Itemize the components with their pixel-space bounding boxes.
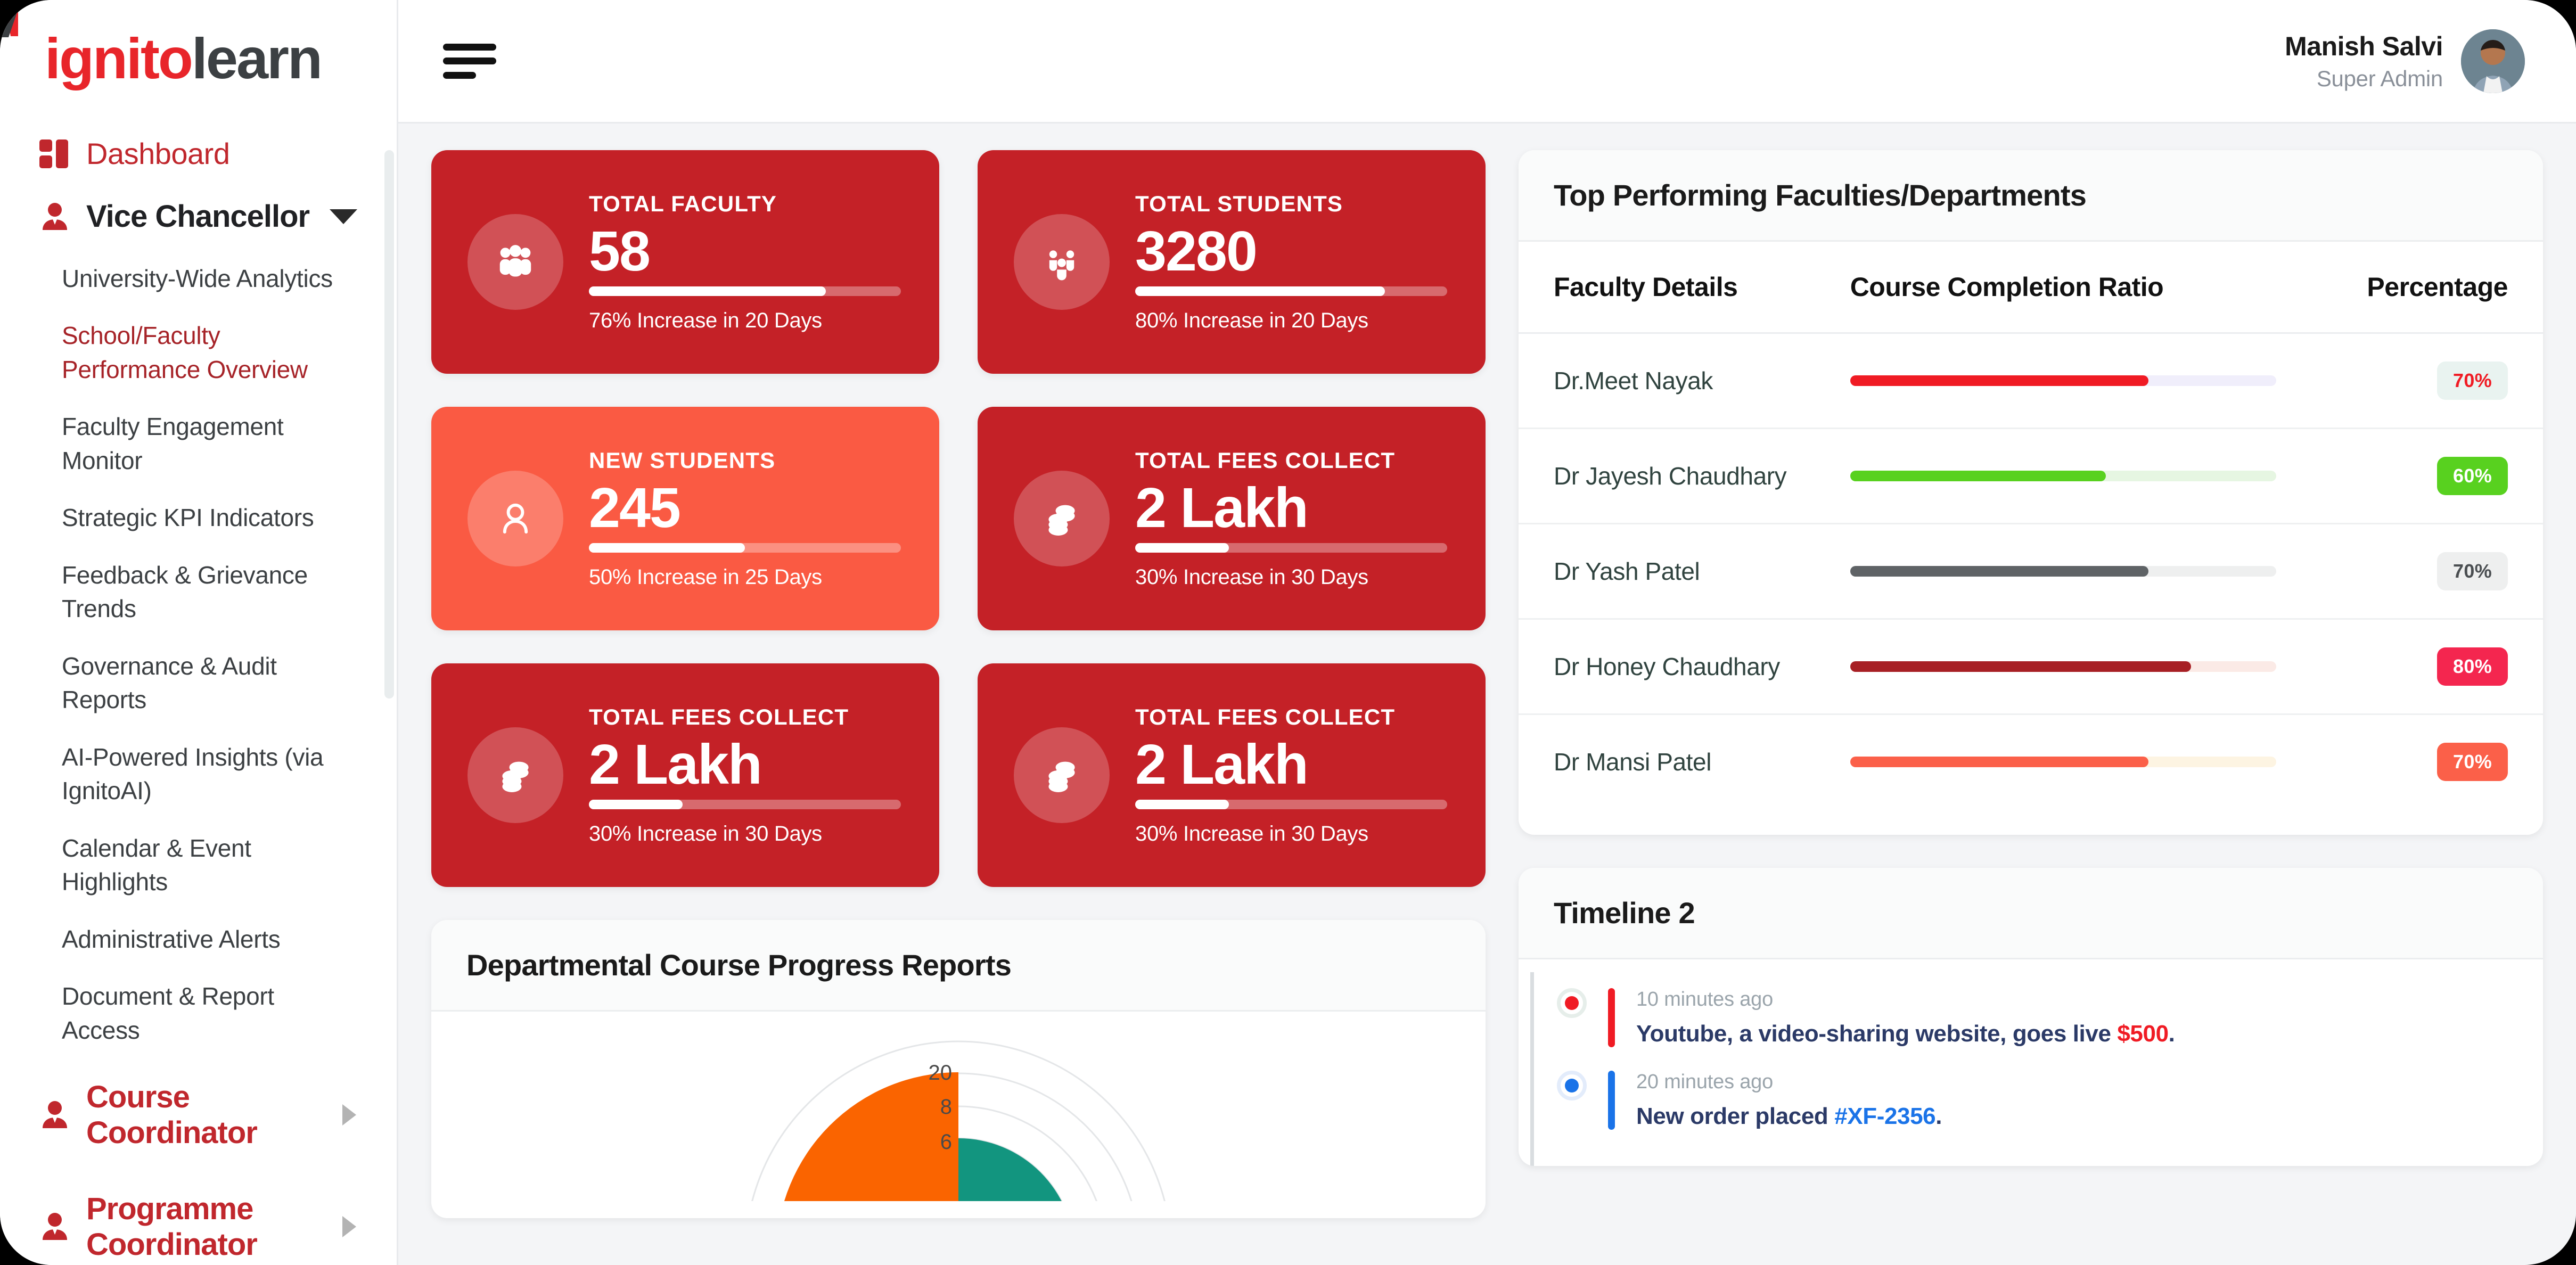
stat-label: NEW STUDENTS — [589, 448, 901, 473]
status-badge: 80% — [2437, 647, 2508, 686]
stat-progress-bar — [1135, 800, 1447, 809]
sidebar-subnav-vice-chancellor: University-Wide Analytics School/Faculty… — [0, 250, 397, 1059]
sidebar-scrollbar[interactable] — [384, 134, 394, 1146]
chevron-down-icon[interactable] — [330, 209, 357, 224]
sidebar-group-vice-chancellor[interactable]: Vice Chancellor — [0, 183, 397, 250]
status-badge: 70% — [2437, 552, 2508, 590]
stat-value: 3280 — [1135, 220, 1447, 283]
sidebar-group-label: Course Coordinator — [86, 1079, 326, 1151]
stat-subtext: 30% Increase in 30 Days — [589, 822, 901, 846]
panel-title: Departmental Course Progress Reports — [466, 948, 1450, 982]
stat-card-total-fees-collect-2[interactable]: TOTAL FEES COLLECT 2 Lakh 30% Increase i… — [431, 663, 939, 887]
panel-title: Top Performing Faculties/Departments — [1554, 178, 2508, 212]
brand-name-secondary: learn — [192, 30, 321, 87]
table-row[interactable]: Dr Jayesh Chaudhary 60% — [1519, 429, 2543, 524]
completion-ratio-bar — [1850, 757, 2276, 767]
sidebar-dashboard-label: Dashboard — [86, 136, 229, 171]
stat-progress-bar — [1135, 543, 1447, 553]
chevron-right-icon[interactable] — [342, 1216, 356, 1237]
table-row[interactable]: Dr Mansi Patel 70% — [1519, 714, 2543, 809]
brand-logo[interactable]: ignitolearn — [0, 0, 397, 125]
timeline-panel: Timeline 2 10 minutes ago Youtube, a vid… — [1519, 868, 2543, 1166]
person-icon — [39, 1211, 70, 1242]
table-row[interactable]: Dr Honey Chaudhary 80% — [1519, 619, 2543, 714]
sidebar-group-programme-coordinator[interactable]: Programme Coordinator — [0, 1171, 397, 1265]
brand-name-primary: ignito — [45, 30, 192, 87]
stat-label: TOTAL FEES COLLECT — [1135, 704, 1447, 730]
grid-icon — [39, 139, 68, 168]
faculty-table: Faculty Details Course Completion Ratio … — [1519, 242, 2543, 809]
person-icon — [39, 201, 70, 232]
stat-card-new-students[interactable]: NEW STUDENTS 245 50% Increase in 25 Days — [431, 407, 939, 630]
avatar-image — [2461, 29, 2525, 93]
chevron-right-icon[interactable] — [342, 1104, 356, 1126]
ignito-flame-icon — [0, 0, 26, 42]
sidebar-group-label: Programme Coordinator — [86, 1191, 326, 1262]
sidebar-item-dashboard[interactable]: Dashboard — [0, 125, 397, 183]
sidebar-item-administrative-alerts[interactable]: Administrative Alerts — [0, 911, 397, 968]
status-badge: 60% — [2437, 457, 2508, 495]
sidebar-item-university-wide-analytics[interactable]: University-Wide Analytics — [0, 250, 397, 307]
sidebar-item-school-faculty-performance-overview[interactable]: School/Faculty Performance Overview — [0, 307, 397, 398]
students-group-icon — [1014, 214, 1110, 310]
faculty-name: Dr Honey Chaudhary — [1554, 652, 1808, 681]
panel-header: Departmental Course Progress Reports — [431, 920, 1486, 1012]
top-header: Manish Salvi Super Admin — [398, 0, 2576, 124]
faculty-name: Dr Jayesh Chaudhary — [1554, 462, 1808, 490]
radial-tick-20: 20 — [929, 1061, 953, 1085]
timeline-item[interactable]: 20 minutes ago New order placed #XF-2356… — [1557, 1071, 2543, 1153]
coins-stack-icon — [467, 727, 563, 823]
top-performing-faculties-panel: Top Performing Faculties/Departments Fac… — [1519, 150, 2543, 835]
status-badge: 70% — [2437, 743, 2508, 781]
stat-label: TOTAL FEES COLLECT — [1135, 448, 1447, 473]
user-role: Super Admin — [2285, 66, 2443, 92]
user-profile[interactable]: Manish Salvi Super Admin — [2285, 29, 2525, 93]
panel-header: Timeline 2 — [1519, 868, 2543, 959]
sidebar-item-ai-powered-insights[interactable]: AI-Powered Insights (via IgnitoAI) — [0, 729, 397, 820]
single-user-icon — [467, 471, 563, 566]
sidebar-item-strategic-kpi-indicators[interactable]: Strategic KPI Indicators — [0, 489, 397, 546]
stat-card-total-fees-collect-1[interactable]: TOTAL FEES COLLECT 2 Lakh 30% Increase i… — [978, 407, 1486, 630]
completion-ratio-bar — [1850, 375, 2276, 386]
sidebar-item-document-report-access[interactable]: Document & Report Access — [0, 968, 397, 1059]
timeline-highlight[interactable]: #XF-2356 — [1834, 1103, 1935, 1129]
stat-value: 58 — [589, 220, 901, 283]
person-icon — [39, 1099, 70, 1130]
faculty-name: Dr Yash Patel — [1554, 557, 1808, 586]
coins-stack-icon — [1014, 471, 1110, 566]
polar-chart-svg: 20 8 6 — [729, 1025, 1187, 1201]
main-content: TOTAL FACULTY 58 76% Increase in 20 Days — [398, 124, 2576, 1265]
table-header-row: Faculty Details Course Completion Ratio … — [1519, 242, 2543, 333]
timeline-dot-icon — [1557, 988, 1587, 1018]
timeline-accent-bar — [1608, 988, 1615, 1047]
sidebar-item-calendar-event-highlights[interactable]: Calendar & Event Highlights — [0, 820, 397, 911]
table-row[interactable]: Dr Yash Patel 70% — [1519, 524, 2543, 619]
panel-header: Top Performing Faculties/Departments — [1519, 150, 2543, 242]
panel-title: Timeline 2 — [1554, 896, 2508, 930]
sidebar-group-course-coordinator[interactable]: Course Coordinator — [0, 1059, 397, 1171]
stat-subtext: 30% Increase in 30 Days — [1135, 822, 1447, 846]
timeline-dot-icon — [1557, 1071, 1587, 1100]
timeline-item[interactable]: 10 minutes ago Youtube, a video-sharing … — [1557, 988, 2543, 1071]
stat-card-total-students[interactable]: TOTAL STUDENTS 3280 80% Increase in 20 D… — [978, 150, 1486, 374]
sidebar-item-governance-audit-reports[interactable]: Governance & Audit Reports — [0, 638, 397, 729]
stat-value: 2 Lakh — [1135, 477, 1447, 540]
timeline-rail — [1530, 972, 1534, 1166]
status-badge: 70% — [2437, 362, 2508, 400]
hamburger-icon[interactable] — [443, 44, 496, 79]
stat-label: TOTAL FEES COLLECT — [589, 704, 901, 730]
stat-card-total-fees-collect-3[interactable]: TOTAL FEES COLLECT 2 Lakh 30% Increase i… — [978, 663, 1486, 887]
stat-subtext: 50% Increase in 25 Days — [589, 565, 901, 589]
timeline-text-after: . — [2169, 1021, 2175, 1047]
radial-tick-8: 8 — [940, 1095, 952, 1119]
timeline-text-before: Youtube, a video-sharing website, goes l… — [1636, 1021, 2117, 1047]
completion-ratio-bar — [1850, 471, 2276, 481]
stat-value: 2 Lakh — [589, 733, 901, 796]
stat-subtext: 80% Increase in 20 Days — [1135, 309, 1447, 333]
stat-value: 2 Lakh — [1135, 733, 1447, 796]
stat-progress-bar — [589, 543, 901, 553]
column-course-completion-ratio: Course Completion Ratio — [1829, 242, 2332, 333]
timeline-message: New order placed #XF-2356. — [1636, 1103, 1942, 1130]
stat-subtext: 76% Increase in 20 Days — [589, 309, 901, 333]
faculty-name: Dr.Meet Nayak — [1554, 366, 1808, 395]
sidebar: ignitolearn Dashboard Vice Chancellor Un… — [0, 0, 398, 1265]
timeline-timestamp: 10 minutes ago — [1636, 988, 2175, 1011]
stat-progress-bar — [589, 286, 901, 296]
left-column: TOTAL FACULTY 58 76% Increase in 20 Days — [431, 150, 1486, 1265]
timeline-timestamp: 20 minutes ago — [1636, 1071, 1942, 1094]
column-faculty-details: Faculty Details — [1519, 242, 1829, 333]
timeline-list: 10 minutes ago Youtube, a video-sharing … — [1519, 959, 2543, 1153]
users-group-icon — [467, 214, 563, 310]
right-column: Top Performing Faculties/Departments Fac… — [1519, 150, 2543, 1265]
stat-subtext: 30% Increase in 30 Days — [1135, 565, 1447, 589]
dashboard-app: ignitolearn Dashboard Vice Chancellor Un… — [0, 0, 2576, 1265]
column-percentage: Percentage — [2332, 242, 2544, 333]
stat-label: TOTAL FACULTY — [589, 191, 901, 217]
sidebar-scrollbar-thumb[interactable] — [384, 150, 394, 699]
timeline-accent-bar — [1608, 1071, 1615, 1130]
stat-cards-grid: TOTAL FACULTY 58 76% Increase in 20 Days — [431, 150, 1486, 887]
polar-area-chart[interactable]: 20 8 6 — [431, 1012, 1486, 1201]
coins-stack-icon — [1014, 727, 1110, 823]
user-name: Manish Salvi — [2285, 31, 2443, 62]
table-row[interactable]: Dr.Meet Nayak 70% — [1519, 333, 2543, 429]
faculty-name: Dr Mansi Patel — [1554, 747, 1808, 776]
radial-tick-6: 6 — [940, 1130, 952, 1154]
stat-card-total-faculty[interactable]: TOTAL FACULTY 58 76% Increase in 20 Days — [431, 150, 939, 374]
sidebar-group-label: Vice Chancellor — [86, 199, 314, 234]
stat-value: 245 — [589, 477, 901, 540]
completion-ratio-bar — [1850, 661, 2276, 672]
sidebar-item-faculty-engagement-monitor[interactable]: Faculty Engagement Monitor — [0, 398, 397, 489]
stat-progress-bar — [589, 800, 901, 809]
timeline-message: Youtube, a video-sharing website, goes l… — [1636, 1021, 2175, 1047]
timeline-text-before: New order placed — [1636, 1103, 1834, 1129]
avatar[interactable] — [2461, 29, 2525, 93]
stat-progress-bar — [1135, 286, 1447, 296]
departmental-course-progress-panel: Departmental Course Progress Reports — [431, 920, 1486, 1218]
completion-ratio-bar — [1850, 566, 2276, 577]
timeline-highlight[interactable]: $500 — [2117, 1021, 2168, 1047]
sidebar-nav: Dashboard Vice Chancellor University-Wid… — [0, 125, 397, 1265]
stat-label: TOTAL STUDENTS — [1135, 191, 1447, 217]
timeline-text-after: . — [1935, 1103, 1942, 1129]
sidebar-item-feedback-grievance-trends[interactable]: Feedback & Grievance Trends — [0, 547, 397, 638]
